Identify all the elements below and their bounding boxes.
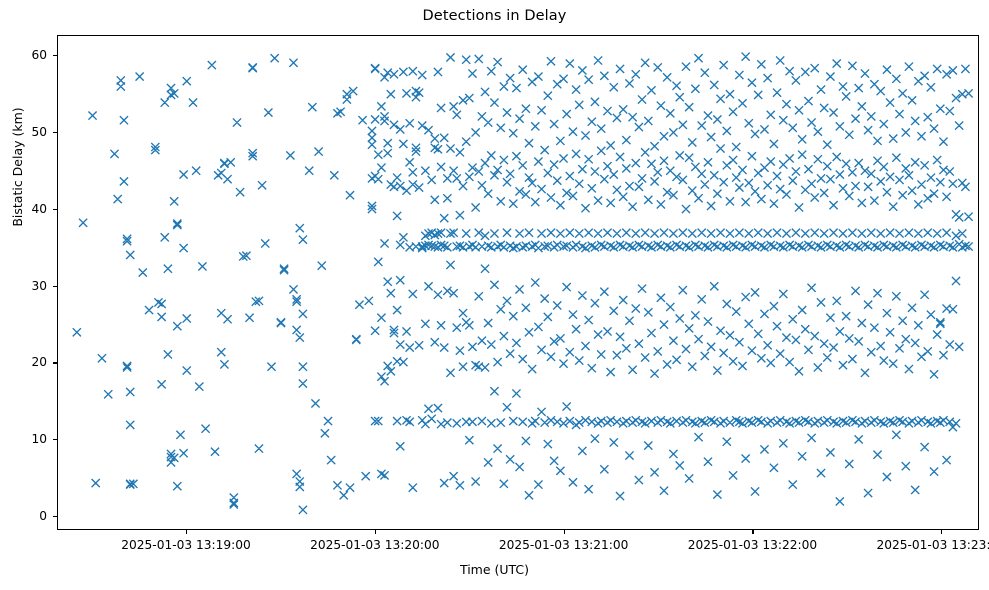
plot-area[interactable]: [57, 35, 979, 530]
page-title: Detections in Delay: [0, 8, 989, 24]
x-tick-label: 2025-01-03 13:23:00: [851, 538, 989, 552]
scatter-points: [73, 53, 973, 514]
x-tick-mark: [186, 530, 187, 534]
scatter-series: [58, 36, 978, 529]
x-tick-label: 2025-01-03 13:20:00: [285, 538, 465, 552]
figure-canvas: Detections in Delay 0102030405060 2025-0…: [0, 0, 989, 590]
x-tick-label: 2025-01-03 13:21:00: [474, 538, 654, 552]
y-axis-label: Bistatic Delay (km): [10, 0, 26, 462]
x-axis-label: Time (UTC): [0, 562, 989, 577]
x-tick-mark: [752, 530, 753, 534]
x-tick-label: 2025-01-03 13:19:00: [96, 538, 276, 552]
x-tick-mark: [375, 530, 376, 534]
x-tick-label: 2025-01-03 13:22:00: [662, 538, 842, 552]
y-tick-label: 0: [11, 509, 47, 523]
x-tick-mark: [564, 530, 565, 534]
x-tick-mark: [941, 530, 942, 534]
